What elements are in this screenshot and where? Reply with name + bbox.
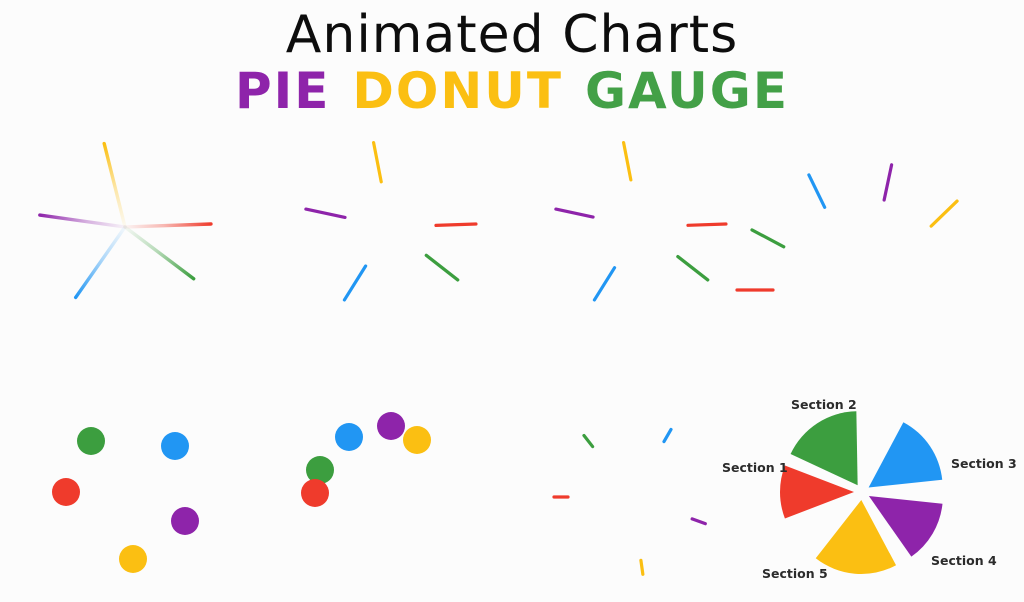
chart-spoke <box>884 165 891 200</box>
gauge-skeleton <box>737 165 957 290</box>
chart-dot <box>119 545 147 573</box>
chart-dot <box>335 423 363 451</box>
chart-spoke <box>809 175 825 207</box>
chart-spoke <box>624 143 631 180</box>
pie-slice[interactable] <box>869 422 943 487</box>
chart-spoke <box>436 224 476 225</box>
chart-spoke <box>664 429 671 441</box>
chart-dot <box>403 426 431 454</box>
pie-chart <box>780 411 942 574</box>
chart-spoke <box>594 268 614 300</box>
chart-spoke <box>556 209 593 217</box>
chart-spoke <box>692 519 705 524</box>
chart-spoke <box>306 209 345 217</box>
chart-spoke <box>931 201 957 226</box>
chart-dot <box>161 432 189 460</box>
pie-slice-label: Section 1 <box>722 460 788 475</box>
chart-spoke <box>752 230 784 247</box>
chart-spoke <box>125 227 194 279</box>
chart-spoke <box>641 560 643 574</box>
chart-spoke <box>678 257 708 280</box>
chart-art-layer <box>0 0 1024 602</box>
chart-spoke <box>104 144 125 227</box>
chart-dot <box>301 479 329 507</box>
pie-slice-label: Section 4 <box>931 553 997 568</box>
chart-spoke <box>584 436 593 447</box>
gauge-dashes-circle <box>554 429 705 574</box>
pie-dots-spread <box>52 427 199 573</box>
chart-spoke <box>125 224 211 227</box>
chart-spoke <box>426 255 458 280</box>
chart-spoke <box>40 215 125 227</box>
pie-skeleton-outer <box>306 143 476 300</box>
donut-dots-converging <box>301 412 431 507</box>
donut-skeleton-outer <box>556 143 726 300</box>
chart-dot <box>77 427 105 455</box>
pie-slice-label: Section 3 <box>951 456 1017 471</box>
chart-dot <box>171 507 199 535</box>
pie-slice-label: Section 2 <box>791 397 857 412</box>
chart-dot <box>306 456 334 484</box>
animated-charts-canvas: Animated Charts PIEDONUTGAUGE Section 1S… <box>0 0 1024 602</box>
pie-skeleton-full <box>40 144 211 298</box>
chart-spoke <box>344 266 365 300</box>
pie-slice-label: Section 5 <box>762 566 828 581</box>
chart-spoke <box>76 227 125 297</box>
chart-spoke <box>374 143 382 182</box>
chart-dot <box>377 412 405 440</box>
chart-spoke <box>688 224 726 225</box>
chart-dot <box>52 478 80 506</box>
